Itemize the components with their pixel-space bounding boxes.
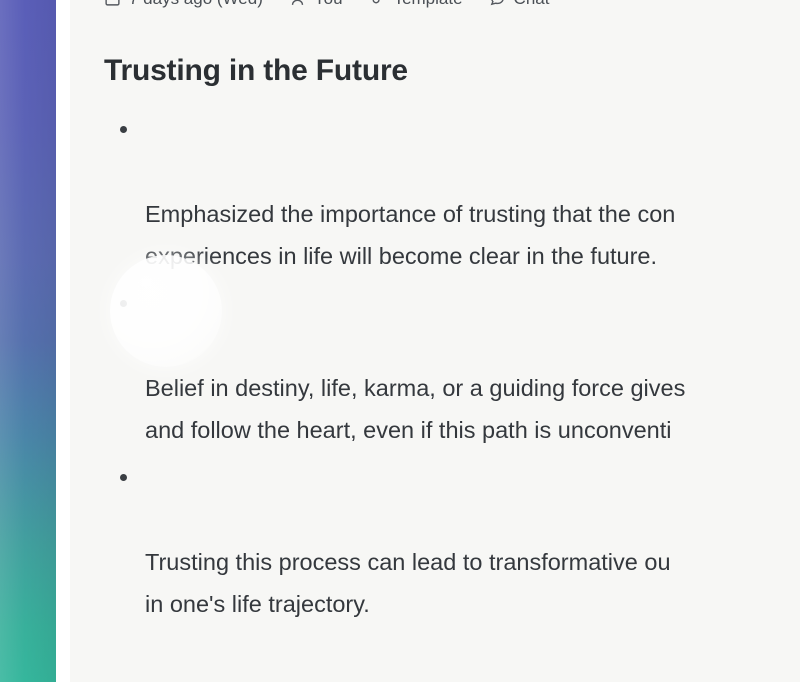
- chat-bubble-icon: [489, 0, 506, 7]
- meta-item-template-label: Template: [394, 0, 463, 7]
- meta-item-date[interactable]: 7 days ago (Wed): [104, 0, 263, 7]
- list-item-text: Emphasized the importance of trusting th…: [145, 201, 675, 269]
- meta-item-date-label: 7 days ago (Wed): [129, 0, 263, 7]
- list-item-text: Belief in destiny, life, karma, or a gui…: [145, 375, 685, 443]
- meta-item-owner[interactable]: You: [289, 0, 343, 7]
- meta-item-template[interactable]: Template: [369, 0, 463, 7]
- list-item-text: Trusting this process can lead to transf…: [145, 549, 671, 617]
- bullet-dot-icon: [120, 300, 127, 307]
- zoomed-note-view: 7 days ago (Wed) You Template: [0, 0, 800, 682]
- meta-item-chat-label: Chat: [514, 0, 550, 7]
- list-item: Belief in destiny, life, karma, or a gui…: [104, 283, 800, 451]
- note-content-panel: 7 days ago (Wed) You Template: [70, 0, 800, 682]
- meta-item-chat[interactable]: Chat: [489, 0, 550, 7]
- bullet-list-trusting-in-the-future: Emphasized the importance of trusting th…: [104, 109, 800, 625]
- rail-sheen: [0, 0, 56, 682]
- section-heading-trusting-in-the-future: Trusting in the Future: [104, 54, 800, 89]
- person-icon: [289, 0, 306, 7]
- note-document-body: Trusting in the Future Emphasized the im…: [70, 22, 800, 682]
- calendar-icon: [104, 0, 121, 7]
- panel-gutter: [56, 0, 70, 682]
- list-item: Trusting this process can lead to transf…: [104, 457, 800, 625]
- bullet-dot-icon: [120, 474, 127, 481]
- list-item: Emphasized the importance of trusting th…: [104, 109, 800, 277]
- note-meta-bar: 7 days ago (Wed) You Template: [70, 0, 800, 12]
- template-icon: [369, 0, 386, 7]
- bullet-dot-icon: [120, 126, 127, 133]
- meta-item-owner-label: You: [314, 0, 343, 7]
- gradient-sidebar-rail: [0, 0, 56, 682]
